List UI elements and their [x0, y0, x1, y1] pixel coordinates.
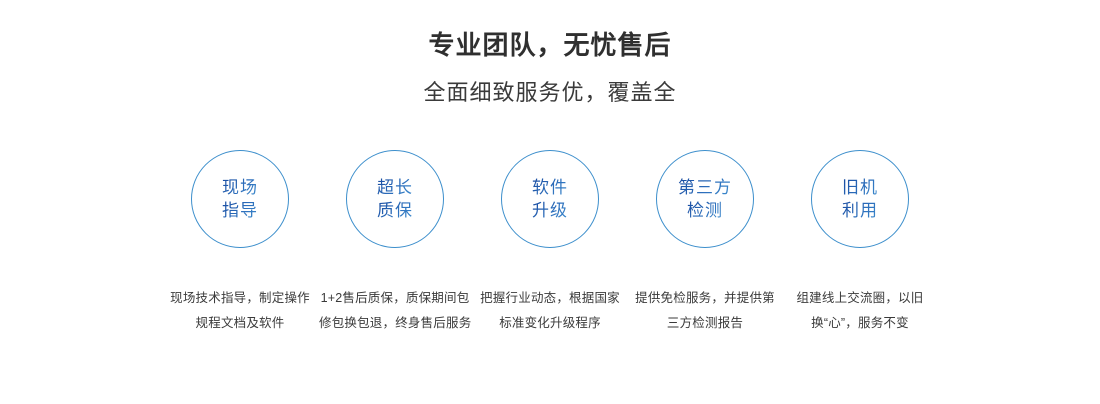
feature-circle-label-line2: 利用: [842, 199, 878, 222]
feature-circle-label-line1: 旧机: [842, 176, 878, 199]
feature-caption-line2: 标准变化升级程序: [474, 311, 626, 336]
page-subtitle: 全面细致服务优，覆盖全: [0, 62, 1100, 108]
feature-circle-label-line2: 质保: [377, 199, 413, 222]
feature-caption-line1: 提供免检服务，并提供第: [629, 286, 781, 311]
feature-circle-label-line2: 指导: [222, 199, 258, 222]
feature-caption-line1: 1+2售后质保，质保期间包: [319, 286, 471, 311]
feature-caption-line1: 组建线上交流圈，以旧: [784, 286, 936, 311]
feature-caption-line1: 现场技术指导，制定操作: [164, 286, 316, 311]
feature-circle-label-line2: 检测: [687, 199, 723, 222]
feature-circle-label-line1: 超长: [377, 176, 413, 199]
feature-caption-old-machine-reuse: 组建线上交流圈，以旧 换“心”，服务不变: [784, 286, 936, 336]
feature-caption-line2: 三方检测报告: [629, 311, 781, 336]
feature-caption-onsite-guidance: 现场技术指导，制定操作 规程文档及软件: [164, 286, 316, 336]
feature-circle-label-line1: 软件: [532, 176, 568, 199]
feature-circle-label-line2: 升级: [532, 199, 568, 222]
feature-circle-software-upgrade[interactable]: 软件 升级: [501, 150, 599, 248]
feature-item-third-party-testing[interactable]: 第三方 检测 提供免检服务，并提供第 三方检测报告: [628, 150, 783, 336]
feature-circle-extended-warranty[interactable]: 超长 质保: [346, 150, 444, 248]
feature-caption-line2: 规程文档及软件: [164, 311, 316, 336]
feature-circle-third-party-testing[interactable]: 第三方 检测: [656, 150, 754, 248]
feature-circle-old-machine-reuse[interactable]: 旧机 利用: [811, 150, 909, 248]
feature-item-software-upgrade[interactable]: 软件 升级 把握行业动态，根据国家 标准变化升级程序: [473, 150, 628, 336]
heading-block: 专业团队，无忧售后 全面细致服务优，覆盖全: [0, 0, 1100, 108]
feature-caption-line1: 把握行业动态，根据国家: [474, 286, 626, 311]
feature-caption-third-party-testing: 提供免检服务，并提供第 三方检测报告: [629, 286, 781, 336]
page-title: 专业团队，无忧售后: [0, 0, 1100, 62]
feature-caption-software-upgrade: 把握行业动态，根据国家 标准变化升级程序: [474, 286, 626, 336]
feature-circle-label-line1: 第三方: [678, 176, 732, 199]
service-features-banner: 专业团队，无忧售后 全面细致服务优，覆盖全 现场 指导 现场技术指导，制定操作 …: [0, 0, 1100, 404]
feature-circle-label-line1: 现场: [222, 176, 258, 199]
feature-item-extended-warranty[interactable]: 超长 质保 1+2售后质保，质保期间包 修包换包退，终身售后服务: [318, 150, 473, 336]
feature-caption-extended-warranty: 1+2售后质保，质保期间包 修包换包退，终身售后服务: [319, 286, 471, 336]
feature-circle-onsite-guidance[interactable]: 现场 指导: [191, 150, 289, 248]
feature-caption-line2: 换“心”，服务不变: [784, 311, 936, 336]
feature-item-onsite-guidance[interactable]: 现场 指导 现场技术指导，制定操作 规程文档及软件: [163, 150, 318, 336]
feature-caption-line2: 修包换包退，终身售后服务: [319, 311, 471, 336]
feature-list: 现场 指导 现场技术指导，制定操作 规程文档及软件 超长 质保 1+2售后质保，…: [0, 150, 1100, 350]
feature-item-old-machine-reuse[interactable]: 旧机 利用 组建线上交流圈，以旧 换“心”，服务不变: [783, 150, 938, 336]
